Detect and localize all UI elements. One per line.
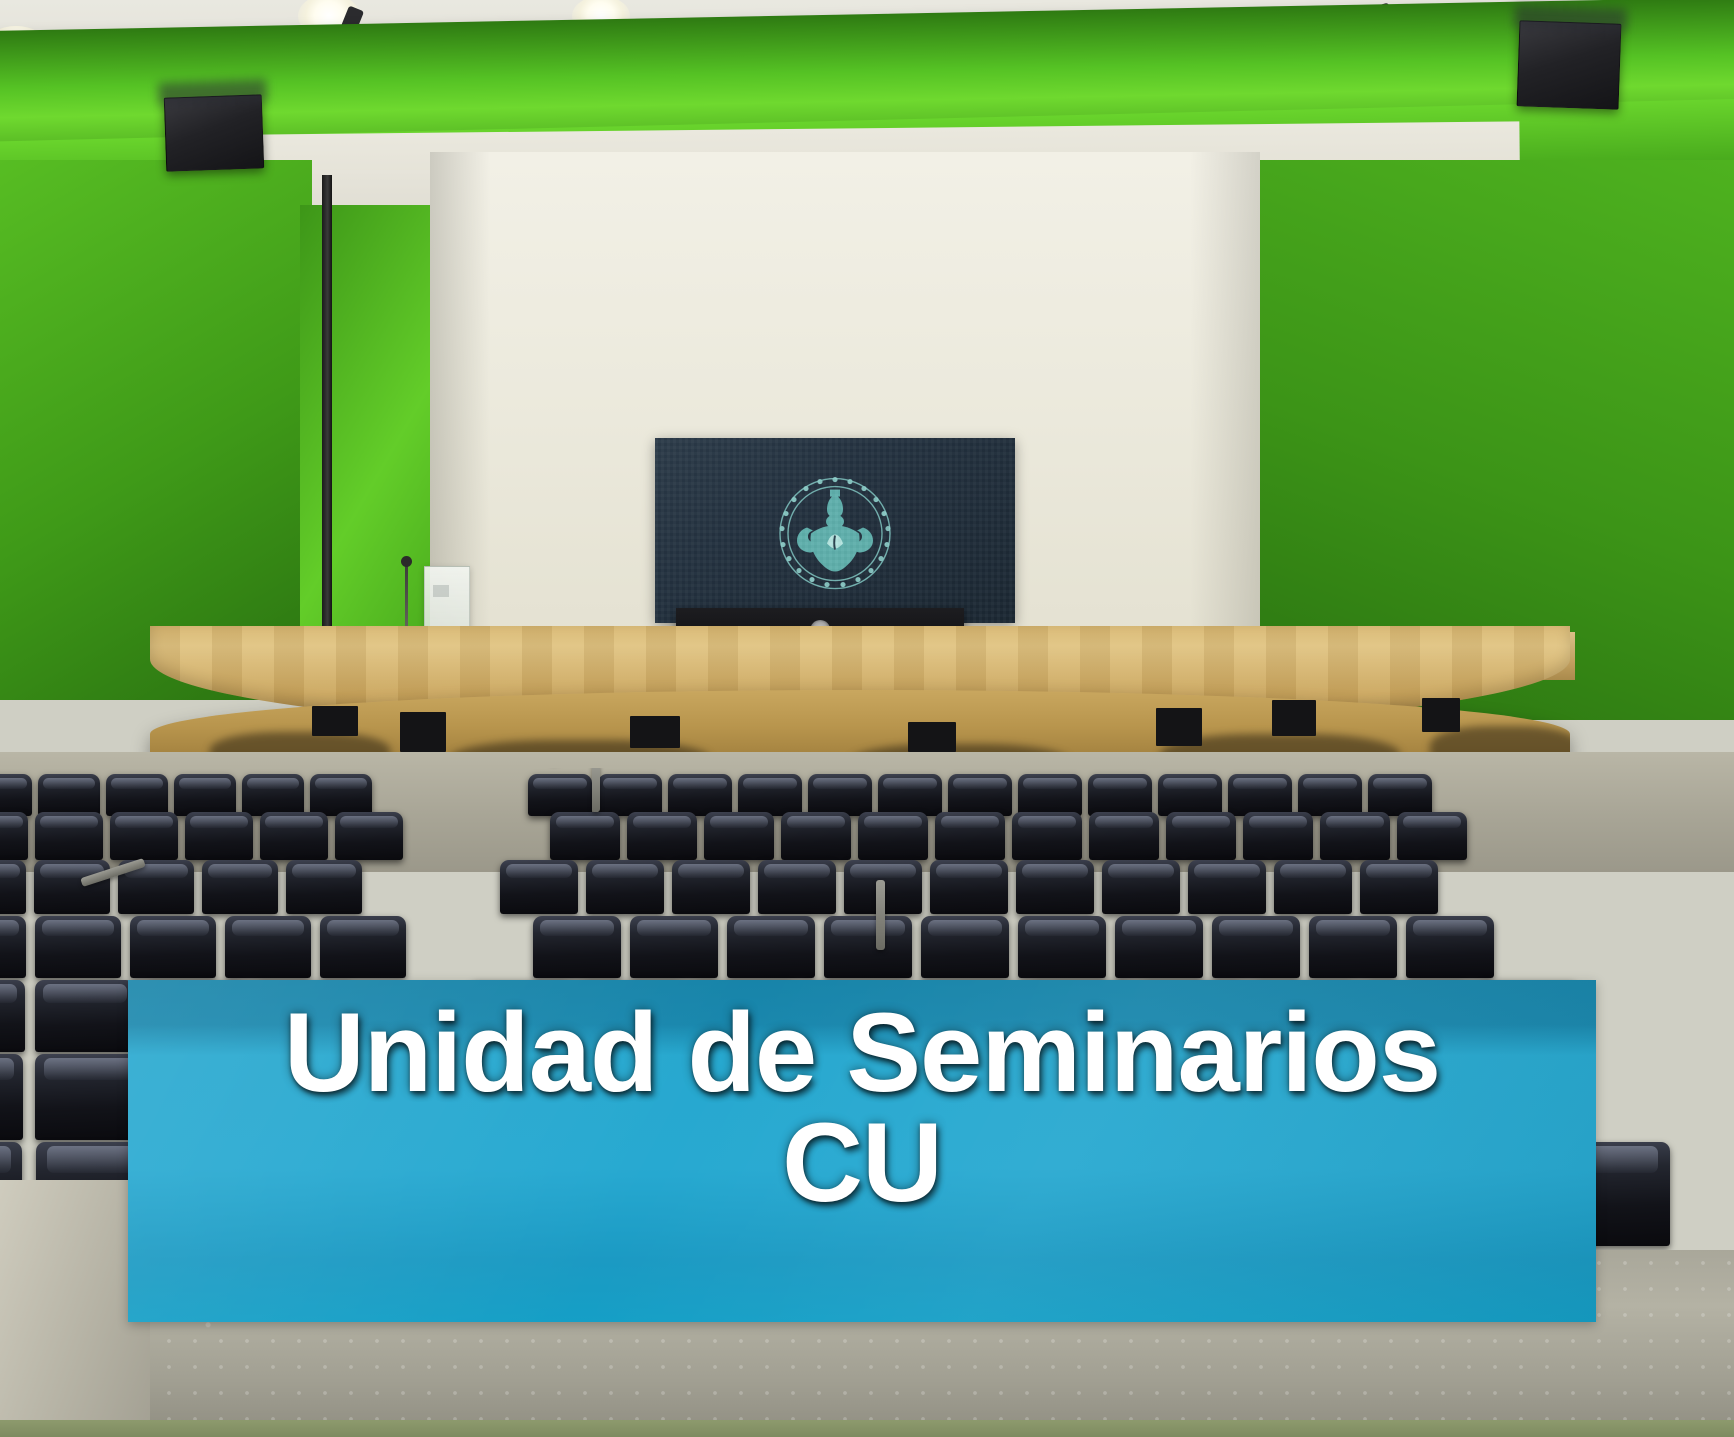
auditorium-seat <box>781 812 851 860</box>
auditorium-seat <box>1368 774 1432 816</box>
auditorium-seat <box>335 812 403 860</box>
auditorium-seat <box>1089 812 1159 860</box>
green-wall-left-inner <box>300 205 430 655</box>
auditorium-seat <box>1397 812 1467 860</box>
screenshot-root: BUAP <box>0 0 1734 1437</box>
auditorium-seat <box>0 1054 23 1140</box>
auditorium-seat <box>948 774 1012 816</box>
stage-vent <box>1422 698 1460 732</box>
seat-row <box>0 916 1734 978</box>
auditorium-seat <box>627 812 697 860</box>
auditorium-seat <box>38 774 100 816</box>
auditorium-seat <box>1166 812 1236 860</box>
auditorium-seat <box>1115 916 1203 978</box>
auditorium-seat <box>824 916 912 978</box>
auditorium-seat <box>225 916 311 978</box>
stage-vent <box>1272 700 1316 736</box>
stage-vent <box>312 706 358 736</box>
auditorium-seat <box>1298 774 1362 816</box>
auditorium-seat <box>630 916 718 978</box>
auditorium-seat <box>260 812 328 860</box>
auditorium-seat <box>668 774 732 816</box>
auditorium-seat <box>1012 812 1082 860</box>
microphone-icon <box>401 556 412 567</box>
auditorium-seat <box>320 916 406 978</box>
auditorium-seat <box>1360 860 1438 914</box>
auditorium-seat <box>174 774 236 816</box>
auditorium-seat <box>1018 774 1082 816</box>
auditorium-seat <box>727 916 815 978</box>
auditorium-seat <box>110 812 178 860</box>
auditorium-seat <box>35 980 135 1052</box>
title-banner: Unidad de Seminarios CU <box>128 980 1596 1322</box>
auditorium-seat <box>0 980 25 1052</box>
auditorium-seat <box>1243 812 1313 860</box>
auditorium-seat <box>598 774 662 816</box>
banner-title-line-1: Unidad de Seminarios <box>284 996 1440 1110</box>
auditorium-seat <box>858 812 928 860</box>
auditorium-seat <box>808 774 872 816</box>
floor-bottom-strip <box>0 1420 1734 1437</box>
auditorium-seat <box>1228 774 1292 816</box>
ceiling-speaker-icon <box>1517 20 1622 110</box>
green-wall-left <box>0 160 312 700</box>
auditorium-seat <box>1102 860 1180 914</box>
auditorium-seat <box>500 860 578 914</box>
auditorium-seat <box>1406 916 1494 978</box>
auditorium-seat <box>550 812 620 860</box>
auditorium-seat <box>185 812 253 860</box>
auditorium-seat <box>704 812 774 860</box>
auditorium-seat <box>0 812 28 860</box>
stage-vent <box>908 722 956 752</box>
auditorium-seat <box>935 812 1005 860</box>
auditorium-seat <box>1320 812 1390 860</box>
auditorium-seat <box>1188 860 1266 914</box>
auditorium-seat <box>0 774 32 816</box>
auditorium-seat <box>202 860 278 914</box>
auditorium-seat <box>0 860 26 914</box>
auditorium-seat <box>921 916 1009 978</box>
aisle-rail <box>876 880 885 950</box>
back-wall-shadow-right <box>1190 152 1260 682</box>
auditorium-seat <box>130 916 216 978</box>
university-seal-icon <box>771 469 899 597</box>
auditorium-seat <box>1309 916 1397 978</box>
banner-title-line-2: CU <box>782 1106 942 1220</box>
aisle-rail <box>592 768 600 812</box>
stage-vent <box>1156 708 1202 746</box>
stage-vent <box>400 712 446 752</box>
auditorium-seat <box>35 916 121 978</box>
auditorium-seat <box>35 812 103 860</box>
stage-vent <box>630 716 680 748</box>
auditorium-seat <box>930 860 1008 914</box>
auditorium-seat <box>738 774 802 816</box>
banner-title: Unidad de Seminarios CU <box>128 980 1596 1322</box>
auditorium-seat <box>0 916 26 978</box>
university-backdrop <box>655 438 1015 623</box>
auditorium-seat <box>1158 774 1222 816</box>
ceiling-speaker-icon <box>164 94 265 171</box>
seat-row <box>0 774 1734 816</box>
auditorium-seat <box>758 860 836 914</box>
auditorium-seat <box>310 774 372 816</box>
auditorium-seat <box>34 860 110 914</box>
auditorium-seat <box>533 916 621 978</box>
seat-row <box>0 860 1734 914</box>
auditorium-seat <box>586 860 664 914</box>
auditorium-seat <box>528 774 592 816</box>
auditorium-seat <box>286 860 362 914</box>
auditorium-seat <box>1016 860 1094 914</box>
seat-row <box>0 812 1734 860</box>
auditorium-seat <box>1018 916 1106 978</box>
auditorium-seat <box>1088 774 1152 816</box>
auditorium-seat <box>878 774 942 816</box>
auditorium-seat <box>242 774 304 816</box>
auditorium-seat <box>1212 916 1300 978</box>
stage-pole <box>322 175 332 675</box>
auditorium-seat <box>106 774 168 816</box>
auditorium-seat <box>672 860 750 914</box>
auditorium-seat <box>1274 860 1352 914</box>
